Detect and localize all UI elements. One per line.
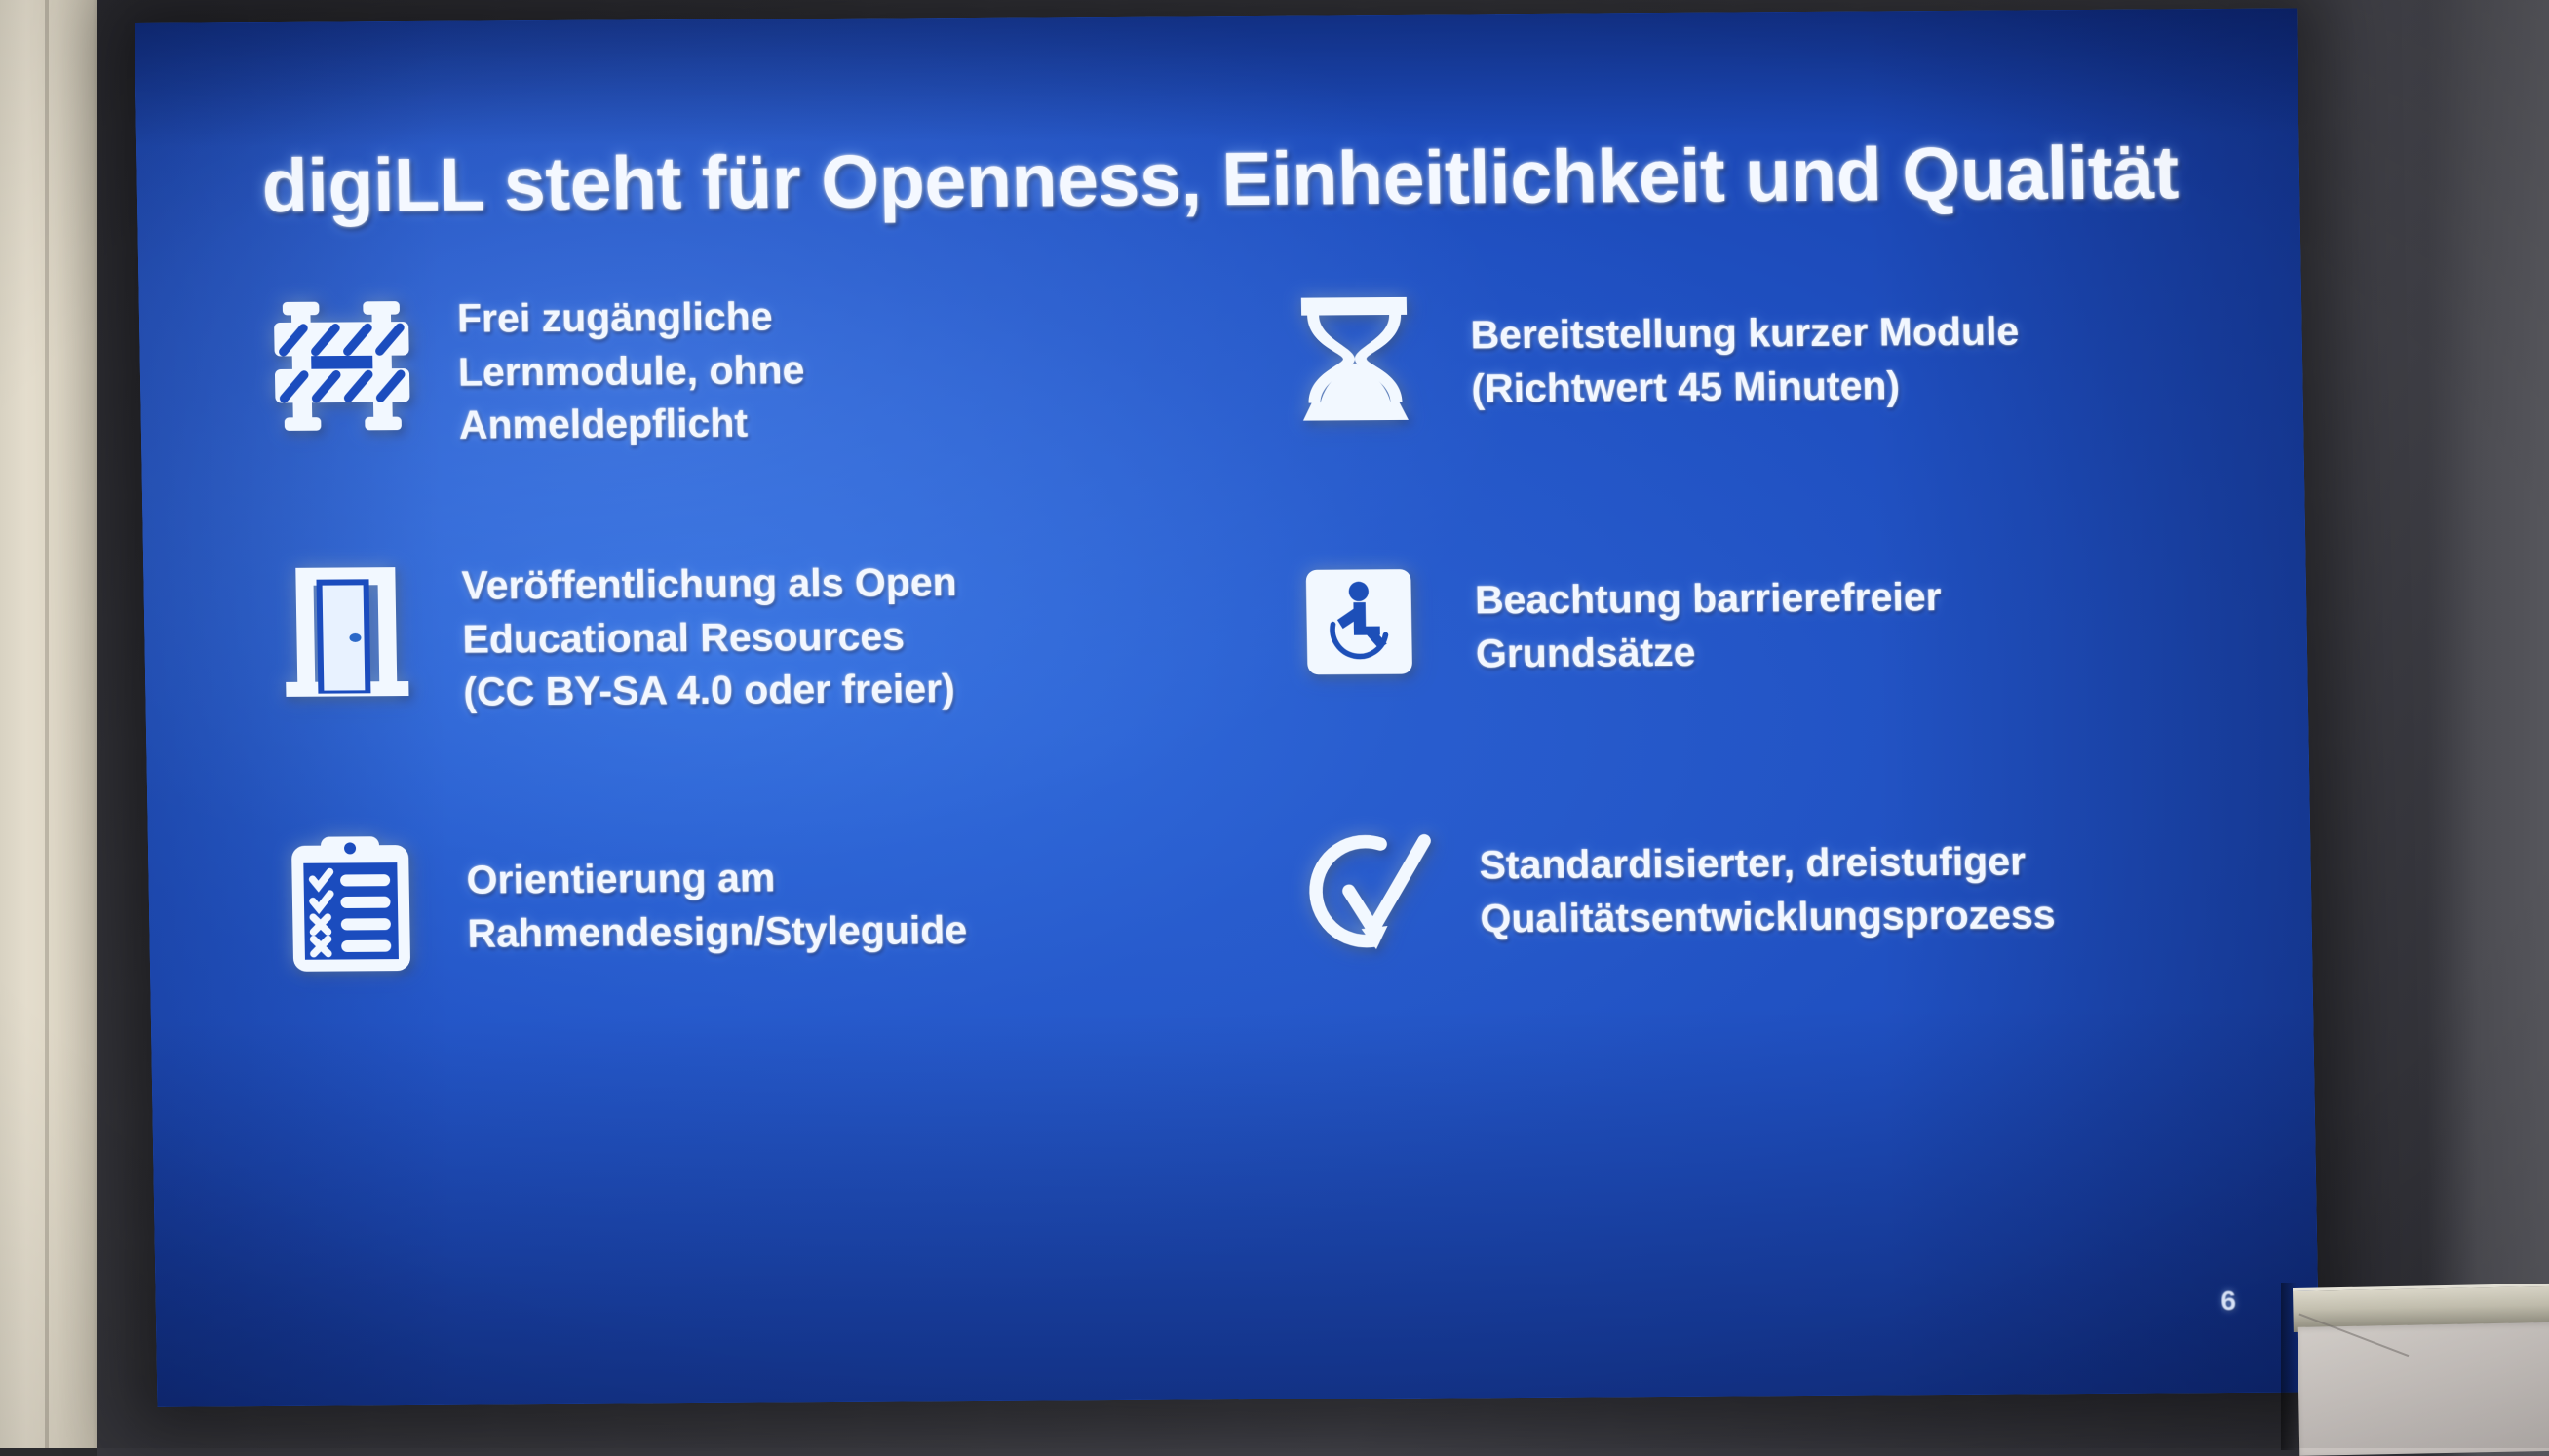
barrier-icon <box>268 292 416 440</box>
feature-line: Grundsätze <box>1476 629 1696 675</box>
hourglass-icon <box>1281 286 1429 433</box>
feature-label: Standardisierter, dreistufiger Qualitäts… <box>1479 813 2056 944</box>
feature-line: Frei zugängliche <box>457 293 773 340</box>
feature-label: Beachtung barrierefreier Grundsätze <box>1474 545 1943 679</box>
feature-line: Standardisierter, dreistufiger <box>1479 838 2026 887</box>
feature-line: (Richtwert 45 Minuten) <box>1471 363 1900 410</box>
feature-item-short-modules: Bereitstellung kurzer Module (Richtwert … <box>1248 280 2230 470</box>
open-door-icon <box>272 556 420 703</box>
feature-item-quality-process: Standardisierter, dreistufiger Qualitäts… <box>1256 806 2239 996</box>
feature-line: Anmeldepflicht <box>458 401 748 447</box>
bezel-right-edge <box>2427 0 2549 1456</box>
feature-line: Educational Resources <box>462 613 905 661</box>
feature-line: (CC BY-SA 4.0 oder freier) <box>463 666 955 714</box>
slide-title: digiLL steht für Openness, Einheitlichke… <box>261 134 2212 226</box>
feature-label: Veröffentlichung als Open Educational Re… <box>461 552 959 718</box>
feature-line: Rahmendesign/Styleguide <box>467 907 967 956</box>
feature-label: Frei zugängliche Lernmodule, ohne Anmeld… <box>457 289 806 451</box>
slide-content: digiLL steht für Openness, Einheitlichke… <box>135 9 2320 1407</box>
feature-line: Veröffentlichung als Open <box>461 559 957 608</box>
feature-label: Orientierung am Rahmendesign/Styleguide <box>466 826 968 960</box>
cycle-check-icon <box>1290 818 1438 965</box>
wheelchair-accessibility-icon <box>1285 549 1433 696</box>
feature-item-styleguide: Orientierung am Rahmendesign/Styleguide <box>277 813 1259 1003</box>
flipchart-paper <box>2298 1322 2549 1456</box>
feature-item-oer-license: Veröffentlichung als Open Educational Re… <box>272 550 1255 740</box>
feature-item-accessibility: Beachtung barrierefreier Grundsätze <box>1252 543 2234 733</box>
slide-surface: digiLL steht für Openness, Einheitlichke… <box>135 9 2320 1407</box>
wall-strip <box>0 0 105 1448</box>
projected-slide: digiLL steht für Openness, Einheitlichke… <box>135 9 2320 1407</box>
feature-line: Bereitstellung kurzer Module <box>1470 308 2019 357</box>
feature-line: Orientierung am <box>466 855 775 901</box>
feature-item-open-access: Frei zugängliche Lernmodule, ohne Anmeld… <box>268 287 1251 477</box>
feature-line: Beachtung barrierefreier <box>1475 574 1942 622</box>
feature-line: Lernmodule, ohne <box>458 347 805 394</box>
feature-line: Qualitätsentwicklungsprozess <box>1480 892 2056 940</box>
slide-page-number: 6 <box>2221 1285 2236 1317</box>
feature-label: Bereitstellung kurzer Module (Richtwert … <box>1470 282 2021 415</box>
clipboard-checklist-icon <box>277 830 425 977</box>
flipchart-board <box>2293 1284 2549 1454</box>
feature-grid: Frei zugängliche Lernmodule, ohne Anmeld… <box>268 280 2244 1287</box>
photo-scene: digiLL steht für Openness, Einheitlichke… <box>0 0 2549 1448</box>
